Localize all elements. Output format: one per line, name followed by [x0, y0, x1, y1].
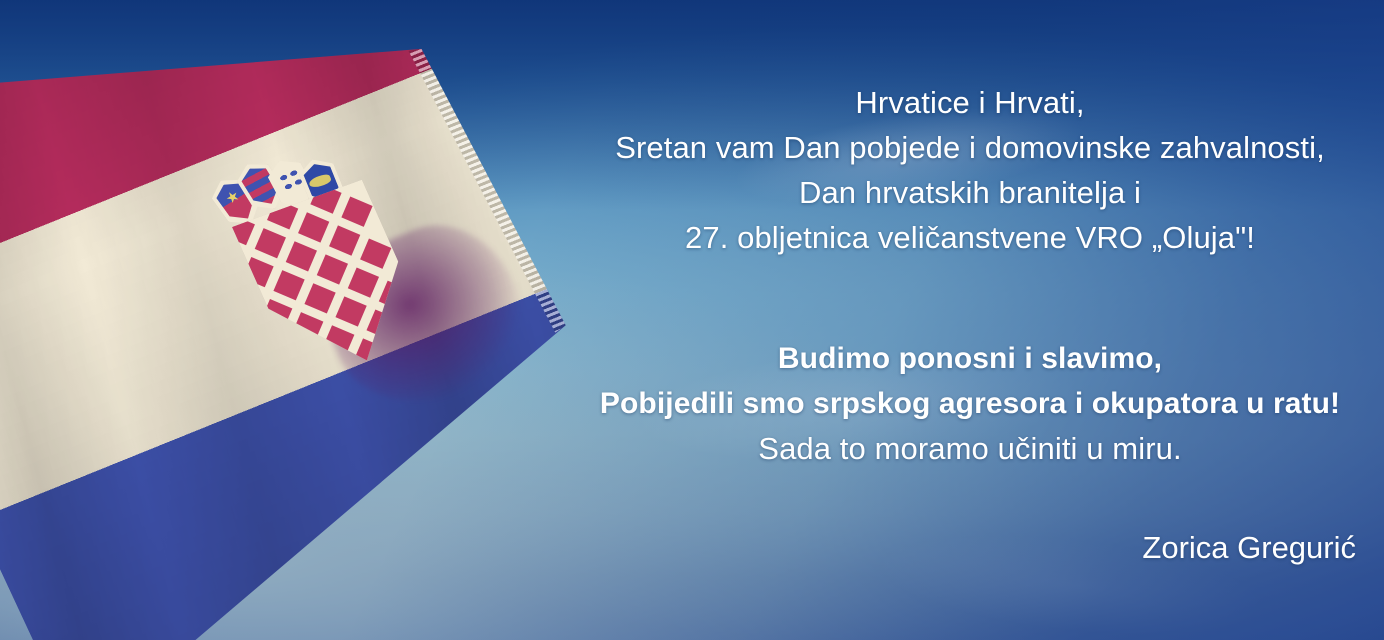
greeting-line-2: Sretan vam Dan pobjede i domovinske zahv…	[556, 125, 1384, 170]
greeting-line-1: Hrvatice i Hrvati,	[556, 80, 1384, 125]
statement-line-1: Budimo ponosni i slavimo,	[556, 336, 1384, 381]
paragraph-spacer	[556, 260, 1384, 336]
greeting-message: Hrvatice i Hrvati, Sretan vam Dan pobjed…	[556, 80, 1384, 471]
greeting-line-3: Dan hrvatskih branitelja i	[556, 170, 1384, 215]
statement-line-3: Sada to moramo učiniti u miru.	[556, 426, 1384, 471]
greeting-poster: Hrvatice i Hrvati, Sretan vam Dan pobjed…	[0, 0, 1384, 640]
statement-line-2: Pobijedili smo srpskog agresora i okupat…	[556, 381, 1384, 426]
author-signature: Zorica Gregurić	[556, 525, 1356, 570]
greeting-line-4: 27. obljetnica veličanstvene VRO „Oluja"…	[556, 215, 1384, 260]
